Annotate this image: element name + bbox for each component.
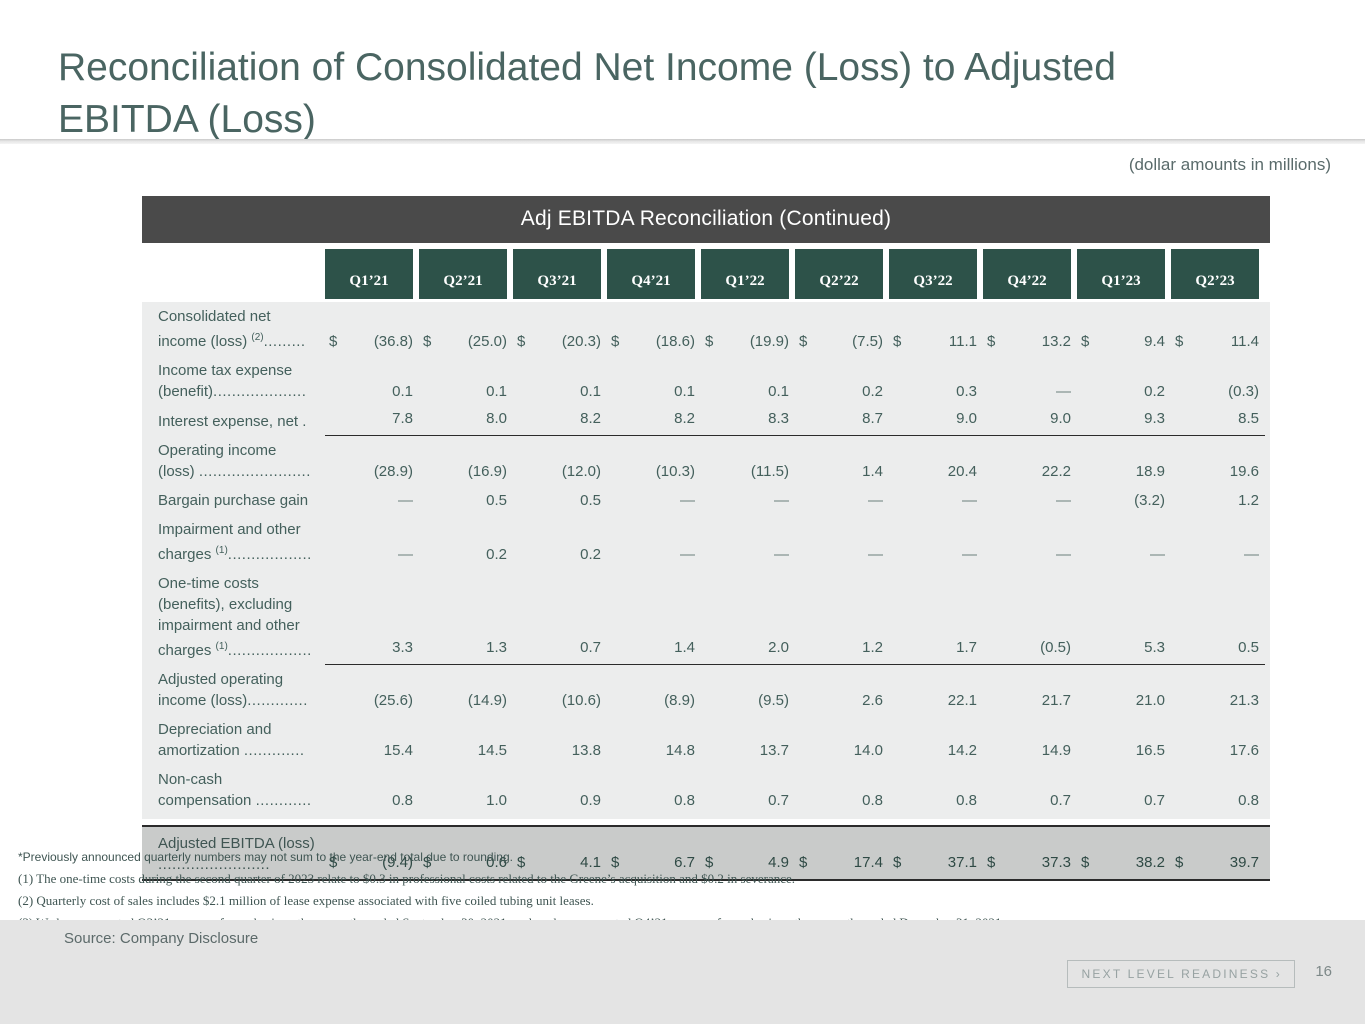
units-note: (dollar amounts in millions) xyxy=(1129,155,1331,175)
cell-value: 22.1 xyxy=(948,692,977,709)
cell-Q123: $9.4 xyxy=(1077,329,1171,356)
cell-Q421: (8.9) xyxy=(607,688,701,715)
cell-Q222: 0.2 xyxy=(795,379,889,406)
row-label: Impairment and other charges (1)........… xyxy=(142,515,325,569)
cell-value: 8.7 xyxy=(795,410,883,429)
cell-value: 1.4 xyxy=(862,463,883,480)
footnote-marker: (2) xyxy=(251,332,263,343)
table-row: Non-cash compensation ............0.81.0… xyxy=(142,765,1270,815)
cell-Q223: 21.3 xyxy=(1171,688,1265,715)
cell-value: — xyxy=(680,546,695,563)
cell-Q422: 22.2 xyxy=(983,459,1077,486)
row-values: $(36.8)$(25.0)$(20.3)$(18.6)$(19.9)$(7.5… xyxy=(325,329,1270,356)
cell-Q121: 15.4 xyxy=(325,738,419,765)
cell-Q322: — xyxy=(889,542,983,569)
cell-value: 0.2 xyxy=(1144,383,1165,400)
cell-value: 14.0 xyxy=(854,742,883,759)
cell-Q223: 1.2 xyxy=(1171,488,1265,515)
cell-value: 8.5 xyxy=(1171,410,1259,429)
table-row: Consolidated net income (loss) (2)......… xyxy=(142,302,1270,356)
cell-value: (25.0) xyxy=(468,333,507,350)
cell-Q221: 0.5 xyxy=(419,488,513,515)
cell-value: 19.6 xyxy=(1230,463,1259,480)
cell-value: 5.3 xyxy=(1077,639,1165,658)
cell-value: (12.0) xyxy=(562,463,601,480)
cell-value: — xyxy=(1244,546,1259,563)
cell-Q123: 0.2 xyxy=(1077,379,1171,406)
cell-value: 8.0 xyxy=(419,410,507,429)
cell-Q123: 16.5 xyxy=(1077,738,1171,765)
cell-Q322: 0.3 xyxy=(889,379,983,406)
cell-Q122: 13.7 xyxy=(701,738,795,765)
row-values: —0.20.2——————— xyxy=(325,542,1270,569)
cell-value: 14.9 xyxy=(1042,742,1071,759)
cell-Q421: 0.8 xyxy=(607,788,701,815)
cell-value: (20.3) xyxy=(562,333,601,350)
cell-value: 11.1 xyxy=(949,333,977,350)
cell-value: 0.8 xyxy=(956,792,977,809)
table-column-headers: Q1’21Q2’21Q3’21Q4’21Q1’22Q2’22Q3’22Q4’22… xyxy=(142,249,1270,299)
cell-Q222: 14.0 xyxy=(795,738,889,765)
cell-value: (16.9) xyxy=(468,463,507,480)
cell-Q121: — xyxy=(325,542,419,569)
cell-Q421: — xyxy=(607,488,701,515)
row-label: Operating income (loss) ................… xyxy=(142,436,325,486)
cell-value: 11.4 xyxy=(1231,333,1259,350)
column-header-9: Q1’23 xyxy=(1077,249,1165,299)
cell-value: 9.3 xyxy=(1077,410,1165,429)
row-values: 0.81.00.90.80.70.80.80.70.70.8 xyxy=(325,788,1270,815)
cell-Q123: (3.2) xyxy=(1077,488,1171,515)
leader-dots: .................. xyxy=(228,642,312,659)
cell-Q321: (12.0) xyxy=(513,459,607,486)
cell-value: 1.7 xyxy=(889,639,977,658)
cell-Q421: 14.8 xyxy=(607,738,701,765)
cell-value: 0.7 xyxy=(1050,792,1071,809)
cell-Q421: 8.2 xyxy=(607,406,701,436)
cell-value: — xyxy=(1150,546,1165,563)
cell-Q122: 8.3 xyxy=(701,406,795,436)
column-header-4: Q4’21 xyxy=(607,249,695,299)
title-divider xyxy=(0,139,1365,144)
table-row: Interest expense, net .7.88.08.28.28.38.… xyxy=(142,406,1270,436)
cell-Q421: 0.1 xyxy=(607,379,701,406)
leader-dots: .................... xyxy=(213,383,306,400)
cell-Q221: 1.0 xyxy=(419,788,513,815)
cell-value: — xyxy=(868,546,883,563)
cell-Q422: 0.7 xyxy=(983,788,1077,815)
table-row: Operating income (loss) ................… xyxy=(142,436,1270,486)
cell-Q223: 8.5 xyxy=(1171,406,1265,436)
cell-value: 13.2 xyxy=(1042,333,1071,350)
cell-value: 13.8 xyxy=(572,742,601,759)
cell-value: (3.2) xyxy=(1134,492,1165,509)
cell-value: (10.3) xyxy=(656,463,695,480)
cell-value: 1.3 xyxy=(419,639,507,658)
cell-value: 0.2 xyxy=(580,546,601,563)
row-values: 3.31.30.71.42.01.21.7(0.5)5.30.5 xyxy=(325,635,1270,665)
cell-Q321: 0.2 xyxy=(513,542,607,569)
cell-Q422: $13.2 xyxy=(983,329,1077,356)
leader-dots: ........................ xyxy=(199,463,311,480)
cell-Q322: 22.1 xyxy=(889,688,983,715)
cell-value: 1.2 xyxy=(1238,492,1259,509)
cell-value: (7.5) xyxy=(852,333,883,350)
cell-value: 1.0 xyxy=(486,792,507,809)
row-values: 0.10.10.10.10.10.20.3—0.2(0.3) xyxy=(325,379,1270,406)
column-header-10: Q2’23 xyxy=(1171,249,1259,299)
cell-Q322: — xyxy=(889,488,983,515)
cell-value: 13.7 xyxy=(760,742,789,759)
cell-value: 14.8 xyxy=(666,742,695,759)
cell-value: — xyxy=(1056,492,1071,509)
cell-Q222: — xyxy=(795,488,889,515)
cell-Q321: 0.7 xyxy=(513,635,607,665)
cell-Q422: — xyxy=(983,542,1077,569)
cell-Q321: 0.9 xyxy=(513,788,607,815)
row-values: —0.50.5—————(3.2)1.2 xyxy=(325,488,1270,515)
leader-dots: .................. xyxy=(228,546,312,563)
cell-value: 0.7 xyxy=(1144,792,1165,809)
cell-Q321: 0.1 xyxy=(513,379,607,406)
cell-value: (8.9) xyxy=(664,692,695,709)
currency-symbol: $ xyxy=(893,333,901,350)
table-body: Consolidated net income (loss) (2)......… xyxy=(142,302,1270,819)
cell-Q322: 20.4 xyxy=(889,459,983,486)
cell-value: (36.8) xyxy=(374,333,413,350)
cell-Q222: 1.2 xyxy=(795,635,889,665)
row-values: 15.414.513.814.813.714.014.214.916.517.6 xyxy=(325,738,1270,765)
cell-value: 18.9 xyxy=(1136,463,1165,480)
cell-Q123: 18.9 xyxy=(1077,459,1171,486)
cell-value: (0.3) xyxy=(1228,383,1259,400)
cell-value: 0.5 xyxy=(580,492,601,509)
cell-Q221: $(25.0) xyxy=(419,329,513,356)
cell-value: 0.8 xyxy=(392,792,413,809)
cell-Q223: — xyxy=(1171,542,1265,569)
cell-value: (10.6) xyxy=(562,692,601,709)
row-label: Consolidated net income (loss) (2)......… xyxy=(142,302,325,356)
row-values: 7.88.08.28.28.38.79.09.09.38.5 xyxy=(325,406,1270,436)
currency-symbol: $ xyxy=(799,333,807,350)
cell-Q122: $(19.9) xyxy=(701,329,795,356)
page-title: Reconciliation of Consolidated Net Incom… xyxy=(58,42,1178,146)
footnote-marker: (1) xyxy=(216,641,228,652)
leader-dots: ............. xyxy=(247,692,308,709)
cell-Q322: 0.8 xyxy=(889,788,983,815)
cell-Q222: — xyxy=(795,542,889,569)
currency-symbol: $ xyxy=(705,333,713,350)
cell-Q121: $(36.8) xyxy=(325,329,419,356)
cell-Q121: 0.1 xyxy=(325,379,419,406)
cell-value: (9.5) xyxy=(758,692,789,709)
cell-Q123: 21.0 xyxy=(1077,688,1171,715)
column-header-5: Q1’22 xyxy=(701,249,789,299)
cell-Q421: $(18.6) xyxy=(607,329,701,356)
cell-value: 21.0 xyxy=(1136,692,1165,709)
currency-symbol: $ xyxy=(987,333,995,350)
cell-value: 0.8 xyxy=(1238,792,1259,809)
row-label: Income tax expense (benefit)............… xyxy=(142,356,325,406)
cell-Q422: — xyxy=(983,488,1077,515)
cell-Q121: 7.8 xyxy=(325,406,419,436)
currency-symbol: $ xyxy=(517,333,525,350)
cell-value: 0.5 xyxy=(1171,639,1259,658)
cell-Q122: — xyxy=(701,488,795,515)
cell-value: 1.2 xyxy=(795,639,883,658)
cell-value: — xyxy=(398,546,413,563)
cell-value: 9.0 xyxy=(889,410,977,429)
cell-Q123: 5.3 xyxy=(1077,635,1171,665)
cell-Q221: 0.1 xyxy=(419,379,513,406)
cell-value: 1.4 xyxy=(607,639,695,658)
table-row: Depreciation and amortization ..........… xyxy=(142,715,1270,765)
cell-value: 17.6 xyxy=(1230,742,1259,759)
cell-Q221: (16.9) xyxy=(419,459,513,486)
leader-dots: ............. xyxy=(244,742,305,759)
table-row: Impairment and other charges (1)........… xyxy=(142,515,1270,569)
cell-Q422: — xyxy=(983,379,1077,406)
footnote-1: (1) The one-time costs during the second… xyxy=(18,868,1348,890)
cell-value: 0.1 xyxy=(768,383,789,400)
cell-value: — xyxy=(962,492,977,509)
cell-value: 0.5 xyxy=(486,492,507,509)
row-label: Interest expense, net . xyxy=(142,407,325,436)
cell-Q322: 9.0 xyxy=(889,406,983,436)
cell-value: 16.5 xyxy=(1136,742,1165,759)
cell-Q222: 2.6 xyxy=(795,688,889,715)
cell-value: 9.0 xyxy=(983,410,1071,429)
currency-symbol: $ xyxy=(329,333,337,350)
cell-value: (19.9) xyxy=(750,333,789,350)
cell-value: 0.1 xyxy=(486,383,507,400)
cell-Q223: 0.5 xyxy=(1171,635,1265,665)
currency-symbol: $ xyxy=(1175,333,1183,350)
row-values: (28.9)(16.9)(12.0)(10.3)(11.5)1.420.422.… xyxy=(325,459,1270,486)
cell-value: 0.3 xyxy=(956,383,977,400)
cell-value: 14.2 xyxy=(948,742,977,759)
row-label: One-time costs (benefits), excluding imp… xyxy=(142,569,325,665)
cell-Q122: (11.5) xyxy=(701,459,795,486)
cell-value: 20.4 xyxy=(948,463,977,480)
cell-Q122: 0.7 xyxy=(701,788,795,815)
cell-Q123: 9.3 xyxy=(1077,406,1171,436)
cell-Q122: — xyxy=(701,542,795,569)
cell-value: 7.8 xyxy=(325,410,413,429)
leader-dots: ............ xyxy=(256,792,312,809)
cell-Q222: 0.8 xyxy=(795,788,889,815)
cell-Q223: $11.4 xyxy=(1171,329,1265,356)
cell-Q221: 14.5 xyxy=(419,738,513,765)
cell-value: — xyxy=(680,492,695,509)
table-banner: Adj EBITDA Reconciliation (Continued) xyxy=(142,196,1270,243)
cell-value: 8.2 xyxy=(513,410,601,429)
cell-Q322: 14.2 xyxy=(889,738,983,765)
cell-value: 0.2 xyxy=(486,546,507,563)
cell-Q422: 14.9 xyxy=(983,738,1077,765)
cell-Q321: $(20.3) xyxy=(513,329,607,356)
cell-Q221: (14.9) xyxy=(419,688,513,715)
cell-Q121: 3.3 xyxy=(325,635,419,665)
cell-value: 21.7 xyxy=(1042,692,1071,709)
column-header-3: Q3’21 xyxy=(513,249,601,299)
cell-value: 21.3 xyxy=(1230,692,1259,709)
column-header-6: Q2’22 xyxy=(795,249,883,299)
cell-Q321: 13.8 xyxy=(513,738,607,765)
currency-symbol: $ xyxy=(1081,333,1089,350)
cell-Q223: 17.6 xyxy=(1171,738,1265,765)
cell-Q223: (0.3) xyxy=(1171,379,1265,406)
cell-value: 0.9 xyxy=(580,792,601,809)
row-label: Bargain purchase gain xyxy=(142,486,325,515)
cell-value: 2.0 xyxy=(701,639,789,658)
cell-value: 0.1 xyxy=(392,383,413,400)
column-header-1: Q1’21 xyxy=(325,249,413,299)
table-row: Bargain purchase gain—0.50.5—————(3.2)1.… xyxy=(142,486,1270,515)
table-row: Adjusted operating income (loss)........… xyxy=(142,665,1270,715)
cell-Q422: (0.5) xyxy=(983,635,1077,665)
row-label: Depreciation and amortization ..........… xyxy=(142,715,325,765)
cell-value: 0.8 xyxy=(674,792,695,809)
cell-value: 3.3 xyxy=(325,639,413,658)
row-values: (25.6)(14.9)(10.6)(8.9)(9.5)2.622.121.72… xyxy=(325,688,1270,715)
cell-Q221: 8.0 xyxy=(419,406,513,436)
cell-Q422: 21.7 xyxy=(983,688,1077,715)
cell-Q121: 0.8 xyxy=(325,788,419,815)
cell-Q221: 1.3 xyxy=(419,635,513,665)
cell-Q122: 0.1 xyxy=(701,379,795,406)
cell-Q421: — xyxy=(607,542,701,569)
cell-Q322: 1.7 xyxy=(889,635,983,665)
ebitda-reconciliation-table: Adj EBITDA Reconciliation (Continued) Q1… xyxy=(142,196,1270,881)
table-row: Income tax expense (benefit)............… xyxy=(142,356,1270,406)
cell-Q122: 2.0 xyxy=(701,635,795,665)
cell-value: 0.1 xyxy=(580,383,601,400)
cell-value: 0.8 xyxy=(862,792,883,809)
cell-Q222: $(7.5) xyxy=(795,329,889,356)
footnote-2: (2) Quarterly cost of sales includes $2.… xyxy=(18,890,1348,912)
row-label: Non-cash compensation ............ xyxy=(142,765,325,815)
cell-Q321: 0.5 xyxy=(513,488,607,515)
cell-value: 8.3 xyxy=(701,410,789,429)
column-header-7: Q3’22 xyxy=(889,249,977,299)
cell-value: 15.4 xyxy=(384,742,413,759)
cell-Q223: 0.8 xyxy=(1171,788,1265,815)
cell-value: — xyxy=(774,492,789,509)
cell-Q421: (10.3) xyxy=(607,459,701,486)
cell-value: 9.4 xyxy=(1144,333,1165,350)
cell-value: (28.9) xyxy=(374,463,413,480)
cell-value: — xyxy=(868,492,883,509)
column-header-2: Q2’21 xyxy=(419,249,507,299)
cell-Q123: 0.7 xyxy=(1077,788,1171,815)
cell-Q121: (25.6) xyxy=(325,688,419,715)
cell-Q122: (9.5) xyxy=(701,688,795,715)
cell-value: 0.1 xyxy=(674,383,695,400)
cell-Q121: — xyxy=(325,488,419,515)
leader-dots: ......... xyxy=(264,333,306,350)
cell-Q222: 1.4 xyxy=(795,459,889,486)
cell-value: 8.2 xyxy=(607,410,695,429)
cell-value: (18.6) xyxy=(656,333,695,350)
cell-value: (25.6) xyxy=(374,692,413,709)
cell-Q422: 9.0 xyxy=(983,406,1077,436)
cell-value: 0.2 xyxy=(862,383,883,400)
cell-value: — xyxy=(774,546,789,563)
cell-value: 22.2 xyxy=(1042,463,1071,480)
cell-value: (14.9) xyxy=(468,692,507,709)
cell-value: (0.5) xyxy=(983,639,1071,658)
cell-Q221: 0.2 xyxy=(419,542,513,569)
leader-dots: . xyxy=(302,413,307,430)
table-row: One-time costs (benefits), excluding imp… xyxy=(142,569,1270,665)
cell-value: — xyxy=(962,546,977,563)
cell-value: — xyxy=(1056,383,1071,400)
column-header-8: Q4’22 xyxy=(983,249,1071,299)
footnote-marker: (1) xyxy=(216,545,228,556)
brand-tag: NEXT LEVEL READINESS › xyxy=(1067,960,1295,988)
cell-Q123: — xyxy=(1077,542,1171,569)
cell-Q121: (28.9) xyxy=(325,459,419,486)
cell-value: 14.5 xyxy=(478,742,507,759)
page-number: 16 xyxy=(1315,963,1332,980)
cell-Q321: (10.6) xyxy=(513,688,607,715)
cell-Q322: $11.1 xyxy=(889,329,983,356)
footnote-0: *Previously announced quarterly numbers … xyxy=(18,846,1348,868)
cell-value: — xyxy=(1056,546,1071,563)
source-label: Source: Company Disclosure xyxy=(64,930,258,947)
cell-Q421: 1.4 xyxy=(607,635,701,665)
currency-symbol: $ xyxy=(423,333,431,350)
row-label: Adjusted operating income (loss)........… xyxy=(142,665,325,715)
cell-Q222: 8.7 xyxy=(795,406,889,436)
cell-Q321: 8.2 xyxy=(513,406,607,436)
cell-value: (11.5) xyxy=(751,463,789,480)
cell-Q223: 19.6 xyxy=(1171,459,1265,486)
cell-value: 0.7 xyxy=(768,792,789,809)
cell-value: 2.6 xyxy=(862,692,883,709)
cell-value: 0.7 xyxy=(513,639,601,658)
cell-value: — xyxy=(398,492,413,509)
currency-symbol: $ xyxy=(611,333,619,350)
